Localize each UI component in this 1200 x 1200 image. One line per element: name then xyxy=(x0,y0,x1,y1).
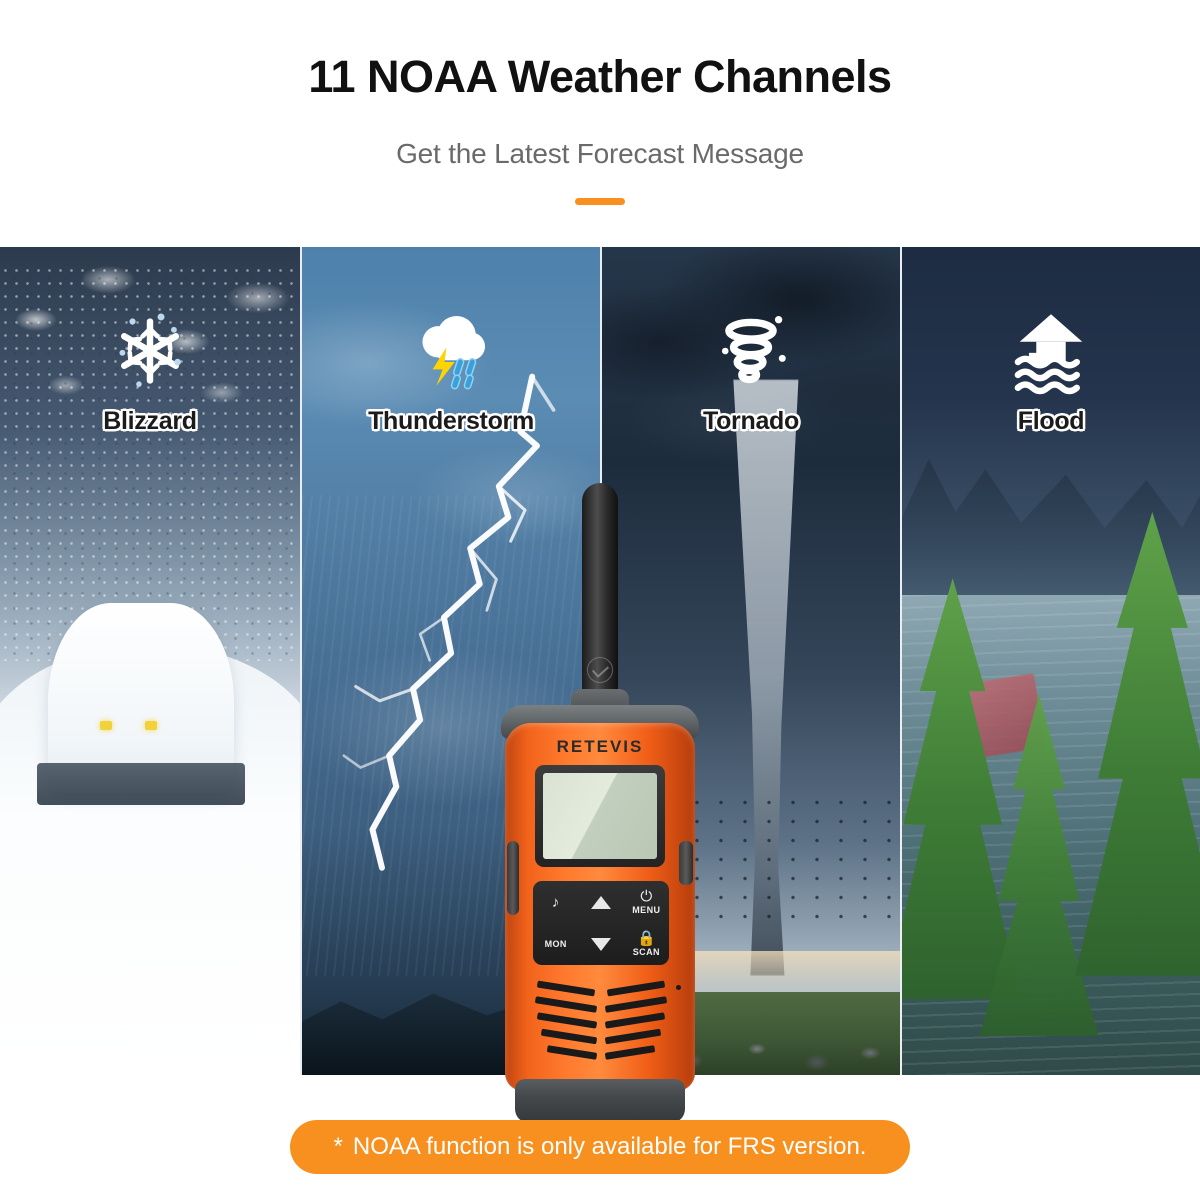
checkmark-emblem-icon xyxy=(587,657,613,683)
keypad: ♪ ⏻ MENU MON 🔒 SCAN xyxy=(533,881,669,965)
antenna xyxy=(582,483,618,701)
power-icon: ⏻ xyxy=(640,889,652,904)
vehicle-lamp-left xyxy=(100,721,112,730)
lcd-bezel xyxy=(535,765,665,867)
lock-icon: 🔒 xyxy=(637,931,656,946)
page-header: 11 NOAA Weather Channels Get the Latest … xyxy=(0,0,1200,240)
footnote-text: NOAA function is only available for FRS … xyxy=(353,1133,867,1160)
buried-vehicle xyxy=(48,603,234,793)
key-down[interactable] xyxy=(578,923,623,965)
snowflake-icon xyxy=(104,305,196,397)
accent-divider xyxy=(575,198,625,205)
ptt-button[interactable] xyxy=(507,841,519,915)
key-call-tone[interactable]: ♪ xyxy=(533,881,578,923)
thunderstorm-label-block: Thunderstorm xyxy=(302,247,600,436)
key-up[interactable] xyxy=(578,881,623,923)
key-menu-power[interactable]: ⏻ MENU xyxy=(624,881,669,923)
side-function-button[interactable] xyxy=(679,841,693,885)
key-scan-lock[interactable]: 🔒 SCAN xyxy=(624,923,669,965)
arrow-down-icon xyxy=(591,938,611,951)
flying-debris xyxy=(685,793,894,925)
panel-label-blizzard: Blizzard xyxy=(103,407,196,436)
microphone-hole xyxy=(676,985,681,990)
key-monitor[interactable]: MON xyxy=(533,923,578,965)
music-note-icon: ♪ xyxy=(552,895,560,910)
weather-panel-flood[interactable]: Flood xyxy=(900,247,1200,1075)
panel-label-flood: Flood xyxy=(1018,407,1085,436)
blizzard-label-block: Blizzard xyxy=(0,247,300,436)
flood-label-block: Flood xyxy=(902,247,1200,436)
key-label-mon: MON xyxy=(545,939,567,949)
panel-label-thunderstorm: Thunderstorm xyxy=(368,407,534,436)
footnote-banner: *NOAA function is only available for FRS… xyxy=(290,1120,911,1174)
footnote-area: *NOAA function is only available for FRS… xyxy=(0,1120,1200,1174)
panel-label-tornado: Tornado xyxy=(703,407,799,436)
flooded-house-icon xyxy=(1005,305,1097,397)
speaker-grille xyxy=(531,979,671,1071)
asterisk: * xyxy=(334,1133,343,1160)
cloud-lightning-rain-icon xyxy=(405,305,497,397)
page-subtitle: Get the Latest Forecast Message xyxy=(0,138,1200,170)
weather-panel-blizzard[interactable]: Blizzard xyxy=(0,247,300,1075)
vehicle-lamp-right xyxy=(145,721,157,730)
radio-base xyxy=(515,1079,685,1123)
lcd-screen xyxy=(543,773,657,859)
key-label-menu: MENU xyxy=(632,905,660,915)
arrow-up-icon xyxy=(591,896,611,909)
walkie-talkie-product-image: RETEVIS ♪ ⏻ MENU MON 🔒 xyxy=(493,483,707,1128)
tornado-label-block: Tornado xyxy=(602,247,900,436)
key-label-scan: SCAN xyxy=(633,947,660,957)
brand-logo: RETEVIS xyxy=(505,737,695,757)
radio-body: RETEVIS ♪ ⏻ MENU MON 🔒 xyxy=(505,723,695,1091)
page-title: 11 NOAA Weather Channels xyxy=(0,0,1200,102)
tornado-icon xyxy=(705,305,797,397)
